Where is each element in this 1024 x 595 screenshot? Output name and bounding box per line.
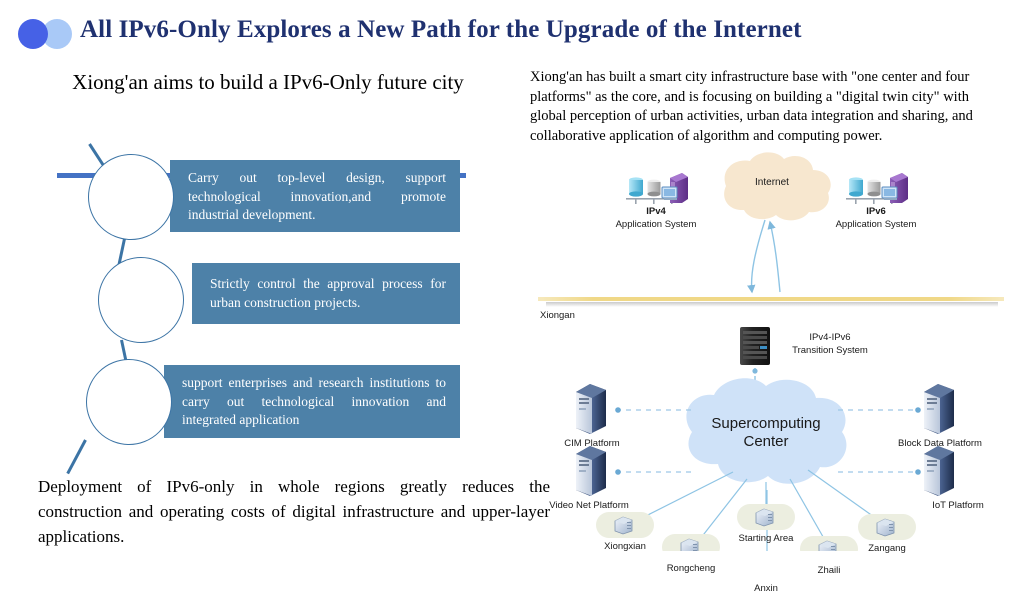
left-panel-footnote: Deployment of IPv6-only in whole regions… <box>38 474 550 549</box>
video-net-platform-label: Video Net Platform <box>530 500 648 512</box>
transition-system-icon <box>740 327 770 365</box>
video-net-platform-icon <box>576 446 606 496</box>
district-label-starting-area: Starting Area <box>732 533 800 545</box>
ipv4-system-label-line2: Application System <box>606 219 706 231</box>
iot-platform-icon <box>924 446 954 496</box>
internet-transition-links <box>752 220 780 292</box>
two-circles-logo-icon <box>18 19 76 49</box>
ipv6-application-system-icon <box>846 173 908 204</box>
page-header: All IPv6-Only Explores a New Path for th… <box>0 0 1024 62</box>
district-node-rongcheng <box>662 534 720 551</box>
ipv6-system-label-line1: IPv6 <box>846 206 906 218</box>
xiongan-boundary-bar <box>538 297 1004 307</box>
district-node-xiongxian <box>596 512 654 538</box>
ipv6-system-label-line2: Application System <box>826 219 926 231</box>
transition-system-label-line2: Transition System <box>770 345 890 357</box>
transition-system-label-line1: IPv4-IPv6 <box>780 332 880 344</box>
right-panel-paragraph: Xiong'an has built a smart city infrastr… <box>530 68 976 146</box>
step-2-circle <box>98 257 184 343</box>
ipv4-application-system-icon <box>626 173 688 204</box>
block-data-platform-icon <box>924 384 954 434</box>
step-3-box: support enterprises and research institu… <box>164 365 460 438</box>
network-architecture-diagram: Internet IPv4 Application System IPv6 Ap… <box>528 152 1024 551</box>
cim-platform-label: CIM Platform <box>550 438 634 450</box>
ipv4-system-label-line1: IPv4 <box>626 206 686 218</box>
logo-circle-dark <box>18 19 48 49</box>
district-label-xiongxian: Xiongxian <box>595 541 655 553</box>
district-label-rongcheng: Rongcheng <box>659 563 723 575</box>
district-label-zangang: Zangang <box>858 543 916 555</box>
step-2-text: Strictly control the approval process fo… <box>210 276 446 310</box>
page-title: All IPv6-Only Explores a New Path for th… <box>80 16 802 44</box>
supercomputing-center-label-line2: Center <box>701 433 831 451</box>
step-1-text: Carry out top-level design, support tech… <box>188 170 446 222</box>
step-1-box: Carry out top-level design, support tech… <box>170 160 460 232</box>
internet-cloud-label: Internet <box>736 177 808 190</box>
iot-platform-label: IoT Platform <box>908 500 1008 512</box>
step-2-box: Strictly control the approval process fo… <box>192 263 460 324</box>
connector-line-bottom <box>66 439 86 474</box>
district-label-anxin: Anxin <box>738 583 794 595</box>
district-node-zangang <box>858 514 916 540</box>
step-3-text: support enterprises and research institu… <box>182 375 446 427</box>
left-panel: Xiong'an aims to build a IPv6-Only futur… <box>0 62 520 551</box>
block-data-platform-label: Block Data Platform <box>880 438 1000 450</box>
district-node-starting-area <box>737 504 795 530</box>
district-node-zhaili <box>800 536 858 551</box>
xiongan-boundary-label: Xiongan <box>540 310 620 322</box>
step-3-circle <box>86 359 172 445</box>
left-panel-heading: Xiong'an aims to build a IPv6-Only futur… <box>58 70 478 95</box>
district-label-zhaili: Zhaili <box>801 565 857 577</box>
right-panel: Xiong'an has built a smart city infrastr… <box>528 62 1024 551</box>
cim-platform-icon <box>576 384 606 434</box>
step-1-circle <box>88 154 174 240</box>
supercomputing-center-label-line1: Supercomputing <box>701 415 831 433</box>
